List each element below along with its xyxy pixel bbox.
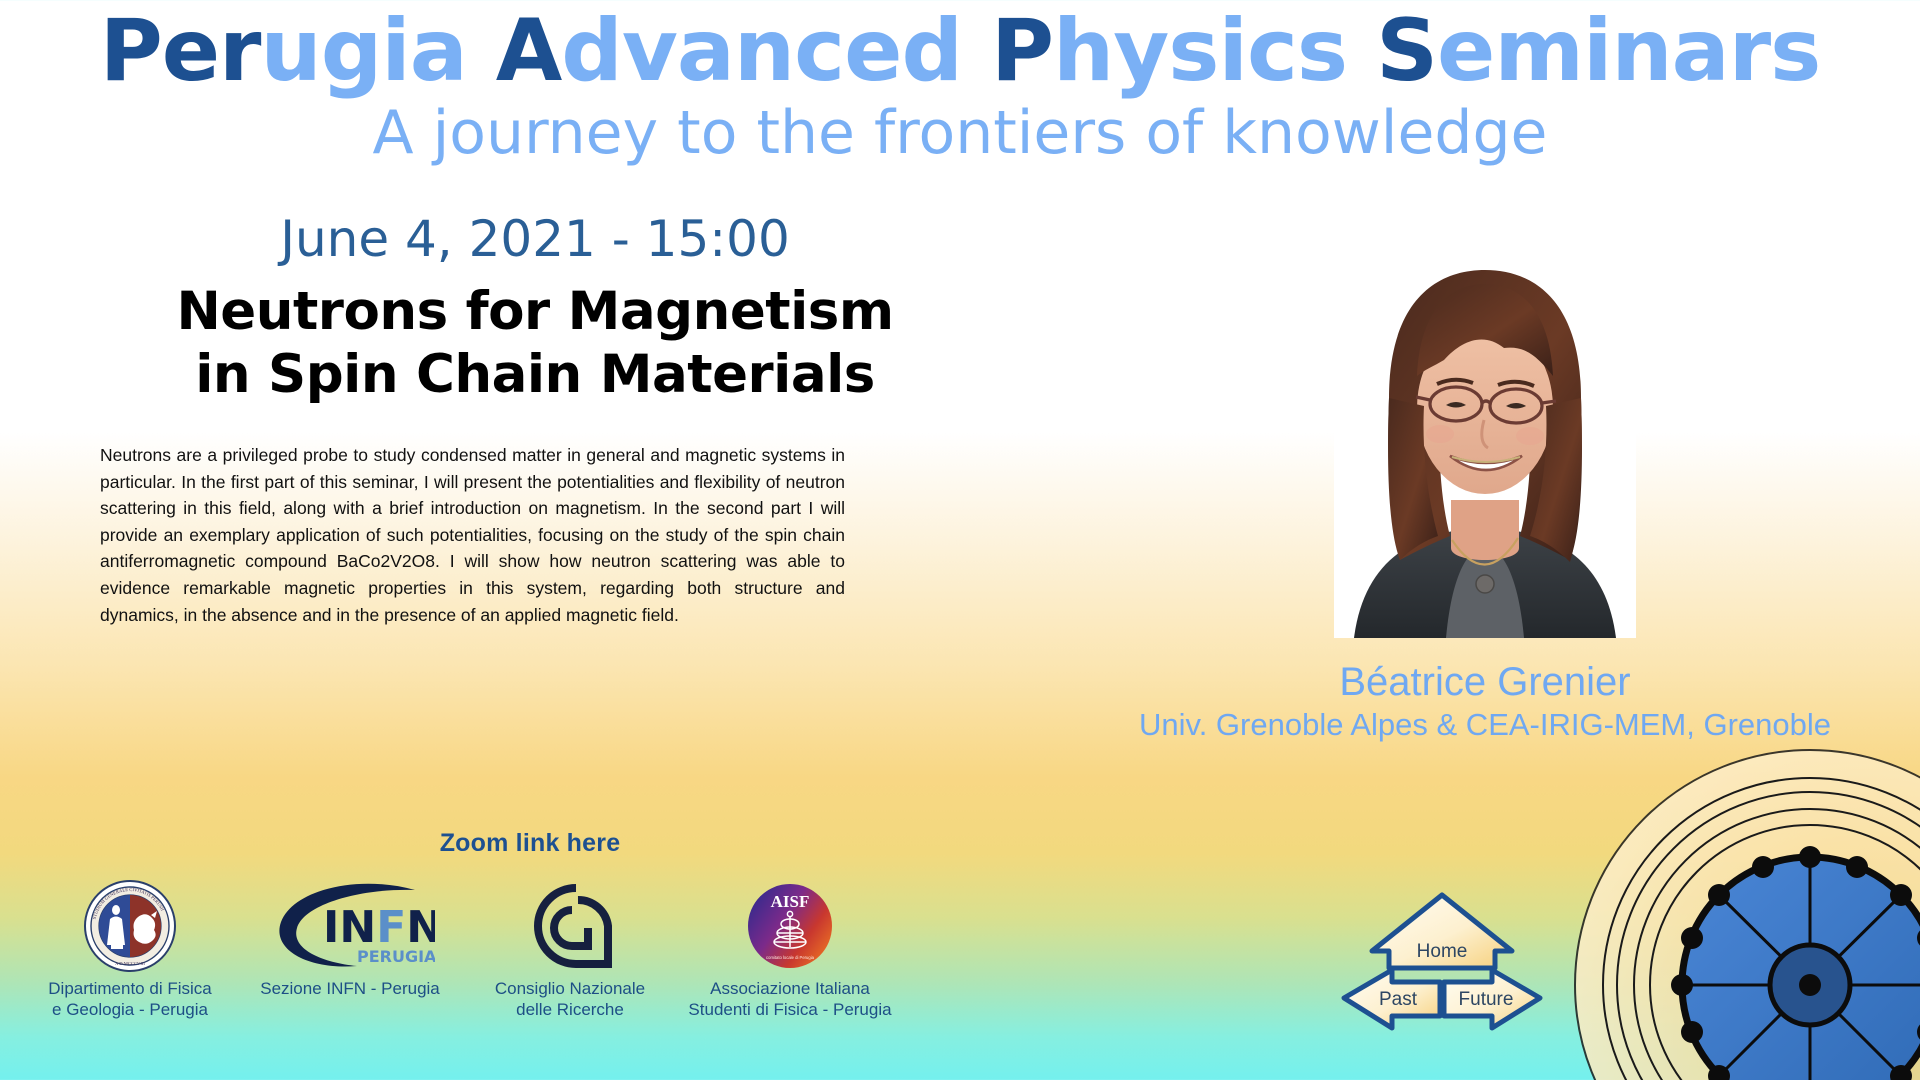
aisf-wordmark: AISF (771, 892, 810, 911)
infn-sub-wordmark: PERUGIA (357, 947, 435, 966)
page-title-segment-6: S (1376, 1, 1437, 101)
logo-caption-aisf: Associazione Italiana Studenti di Fisica… (680, 978, 900, 1020)
caption-line-2: e Geologia - Perugia (20, 999, 240, 1020)
page-title-segment-2: A (496, 1, 562, 101)
cnr-logo-icon (460, 878, 680, 974)
caption-line-2: delle Ricerche (460, 999, 680, 1020)
logo-item-aisf[interactable]: AISF comitato locale di Perugia Associaz… (680, 878, 900, 1020)
caption-line-1: Dipartimento di Fisica (20, 978, 240, 999)
page-title-segment-7: eminars (1437, 1, 1820, 101)
page-title-segment-5: hysics (1053, 1, 1376, 101)
aisf-logo-icon: AISF comitato locale di Perugia (680, 878, 900, 974)
logo-caption-cnr: Consiglio Nazionale delle Ricerche (460, 978, 680, 1020)
nav-arrow-future-label: Future (1459, 989, 1514, 1010)
sponsor-logos: STUDIUM GENERALE CIVITATIS PERUSII A D M… (20, 878, 900, 1020)
talk-title: Neutrons for Magnetism in Spin Chain Mat… (0, 281, 1050, 406)
logo-caption-infn: Sezione INFN - Perugia (240, 978, 460, 999)
logo-caption-unipg: Dipartimento di Fisica e Geologia - Peru… (20, 978, 240, 1020)
page-title-segment-1: ugia (260, 1, 495, 101)
zoom-link[interactable]: Zoom link here (0, 829, 1060, 858)
masthead: Perugia Advanced Physics Seminars A jour… (0, 8, 1920, 165)
page-title-segment-3: dvanced (561, 1, 991, 101)
page-title: Perugia Advanced Physics Seminars (0, 8, 1920, 96)
page-subtitle: A journey to the frontiers of knowledge (0, 102, 1920, 165)
logo-item-unipg[interactable]: STUDIUM GENERALE CIVITATIS PERUSII A D M… (20, 878, 240, 1020)
nav-arrow-past[interactable]: Past (1344, 970, 1440, 1028)
aisf-sub-wordmark: comitato locale di Perugia (766, 955, 815, 960)
logo-item-infn[interactable]: INFN PERUGIA Sezione INFN - Perugia (240, 878, 460, 999)
speaker-photo (1334, 248, 1636, 638)
infn-logo-icon: INFN PERUGIA (240, 878, 460, 974)
nav-arrow-future[interactable]: Future (1444, 970, 1540, 1028)
caption-line-1: Consiglio Nazionale (460, 978, 680, 999)
caption-line-2: Studenti di Fisica - Perugia (680, 999, 900, 1020)
abstract-text: Neutrons are a privileged probe to study… (100, 442, 845, 628)
page-title-segment-0: Per (100, 1, 261, 101)
page-title-segment-4: P (991, 1, 1053, 101)
caption-line-1: Sezione INFN - Perugia (240, 978, 460, 999)
decorative-physics-wheel (1560, 730, 1920, 1080)
seminar-info-column: June 4, 2021 - 15:00 Neutrons for Magnet… (0, 212, 1050, 628)
logo-item-cnr[interactable]: Consiglio Nazionale delle Ricerche (460, 878, 680, 1020)
talk-title-line-2: in Spin Chain Materials (20, 344, 1050, 407)
speaker-block: Béatrice Grenier Univ. Grenoble Alpes & … (1050, 248, 1920, 742)
seal-founding-year: A D MCCCVIII (115, 961, 145, 966)
speaker-affiliation: Univ. Grenoble Alpes & CEA-IRIG-MEM, Gre… (1050, 707, 1920, 743)
nav-arrow-home-label: Home (1417, 941, 1468, 962)
caption-line-1: Associazione Italiana (680, 978, 900, 999)
unipg-seal-icon: STUDIUM GENERALE CIVITATIS PERUSII A D M… (20, 878, 240, 974)
talk-title-line-1: Neutrons for Magnetism (20, 281, 1050, 344)
navigation-arrows[interactable]: Home Past Future (1330, 888, 1580, 1048)
seminar-datetime: June 4, 2021 - 15:00 (0, 212, 1050, 267)
speaker-name: Béatrice Grenier (1050, 660, 1920, 705)
infn-wordmark: INFN (323, 902, 435, 953)
nav-arrow-home[interactable]: Home (1372, 895, 1512, 968)
nav-arrow-past-label: Past (1379, 989, 1418, 1010)
